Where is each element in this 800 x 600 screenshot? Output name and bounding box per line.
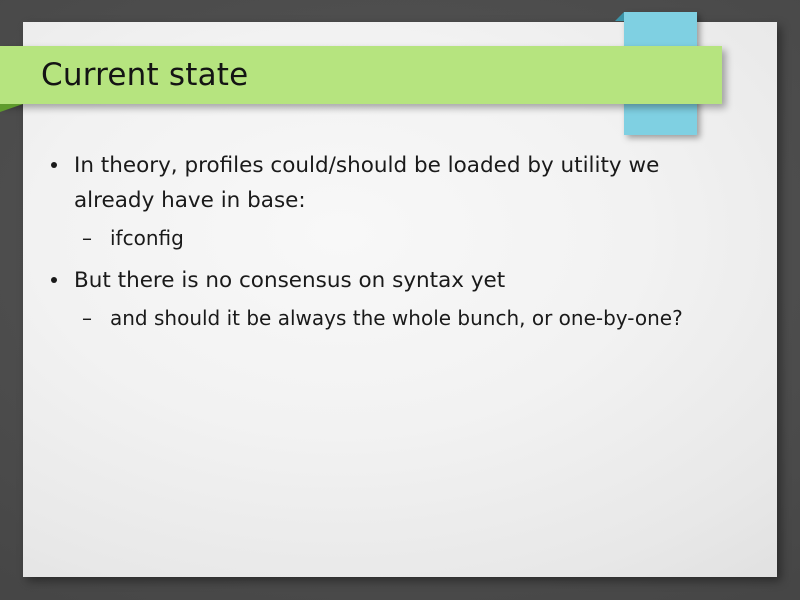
bullet-item: In theory, profiles could/should be load… <box>23 148 777 218</box>
bullet-text: But there is no consensus on syntax yet <box>74 263 734 298</box>
sub-bullet-text: and should it be always the whole bunch,… <box>110 302 777 335</box>
bullet-marker-dash-icon: – <box>82 222 110 255</box>
slide-body: In theory, profiles could/should be load… <box>23 140 777 335</box>
bullet-marker-dash-icon: – <box>82 302 110 335</box>
presentation-slide: Current state In theory, profiles could/… <box>0 0 800 600</box>
bullet-text: In theory, profiles could/should be load… <box>74 148 734 218</box>
title-banner: Current state <box>0 46 722 104</box>
sub-bullet-text: ifconfig <box>110 222 777 255</box>
title-banner-fold-icon <box>0 104 23 112</box>
bullet-marker-dot-icon <box>51 263 74 298</box>
bullet-item: But there is no consensus on syntax yet <box>23 263 777 298</box>
decorative-blue-tab-fold-icon <box>615 12 624 21</box>
sub-bullet-item: – ifconfig <box>23 222 777 255</box>
slide-title: Current state <box>41 60 248 91</box>
bullet-marker-dot-icon <box>51 148 74 183</box>
sub-bullet-item: – and should it be always the whole bunc… <box>23 302 777 335</box>
